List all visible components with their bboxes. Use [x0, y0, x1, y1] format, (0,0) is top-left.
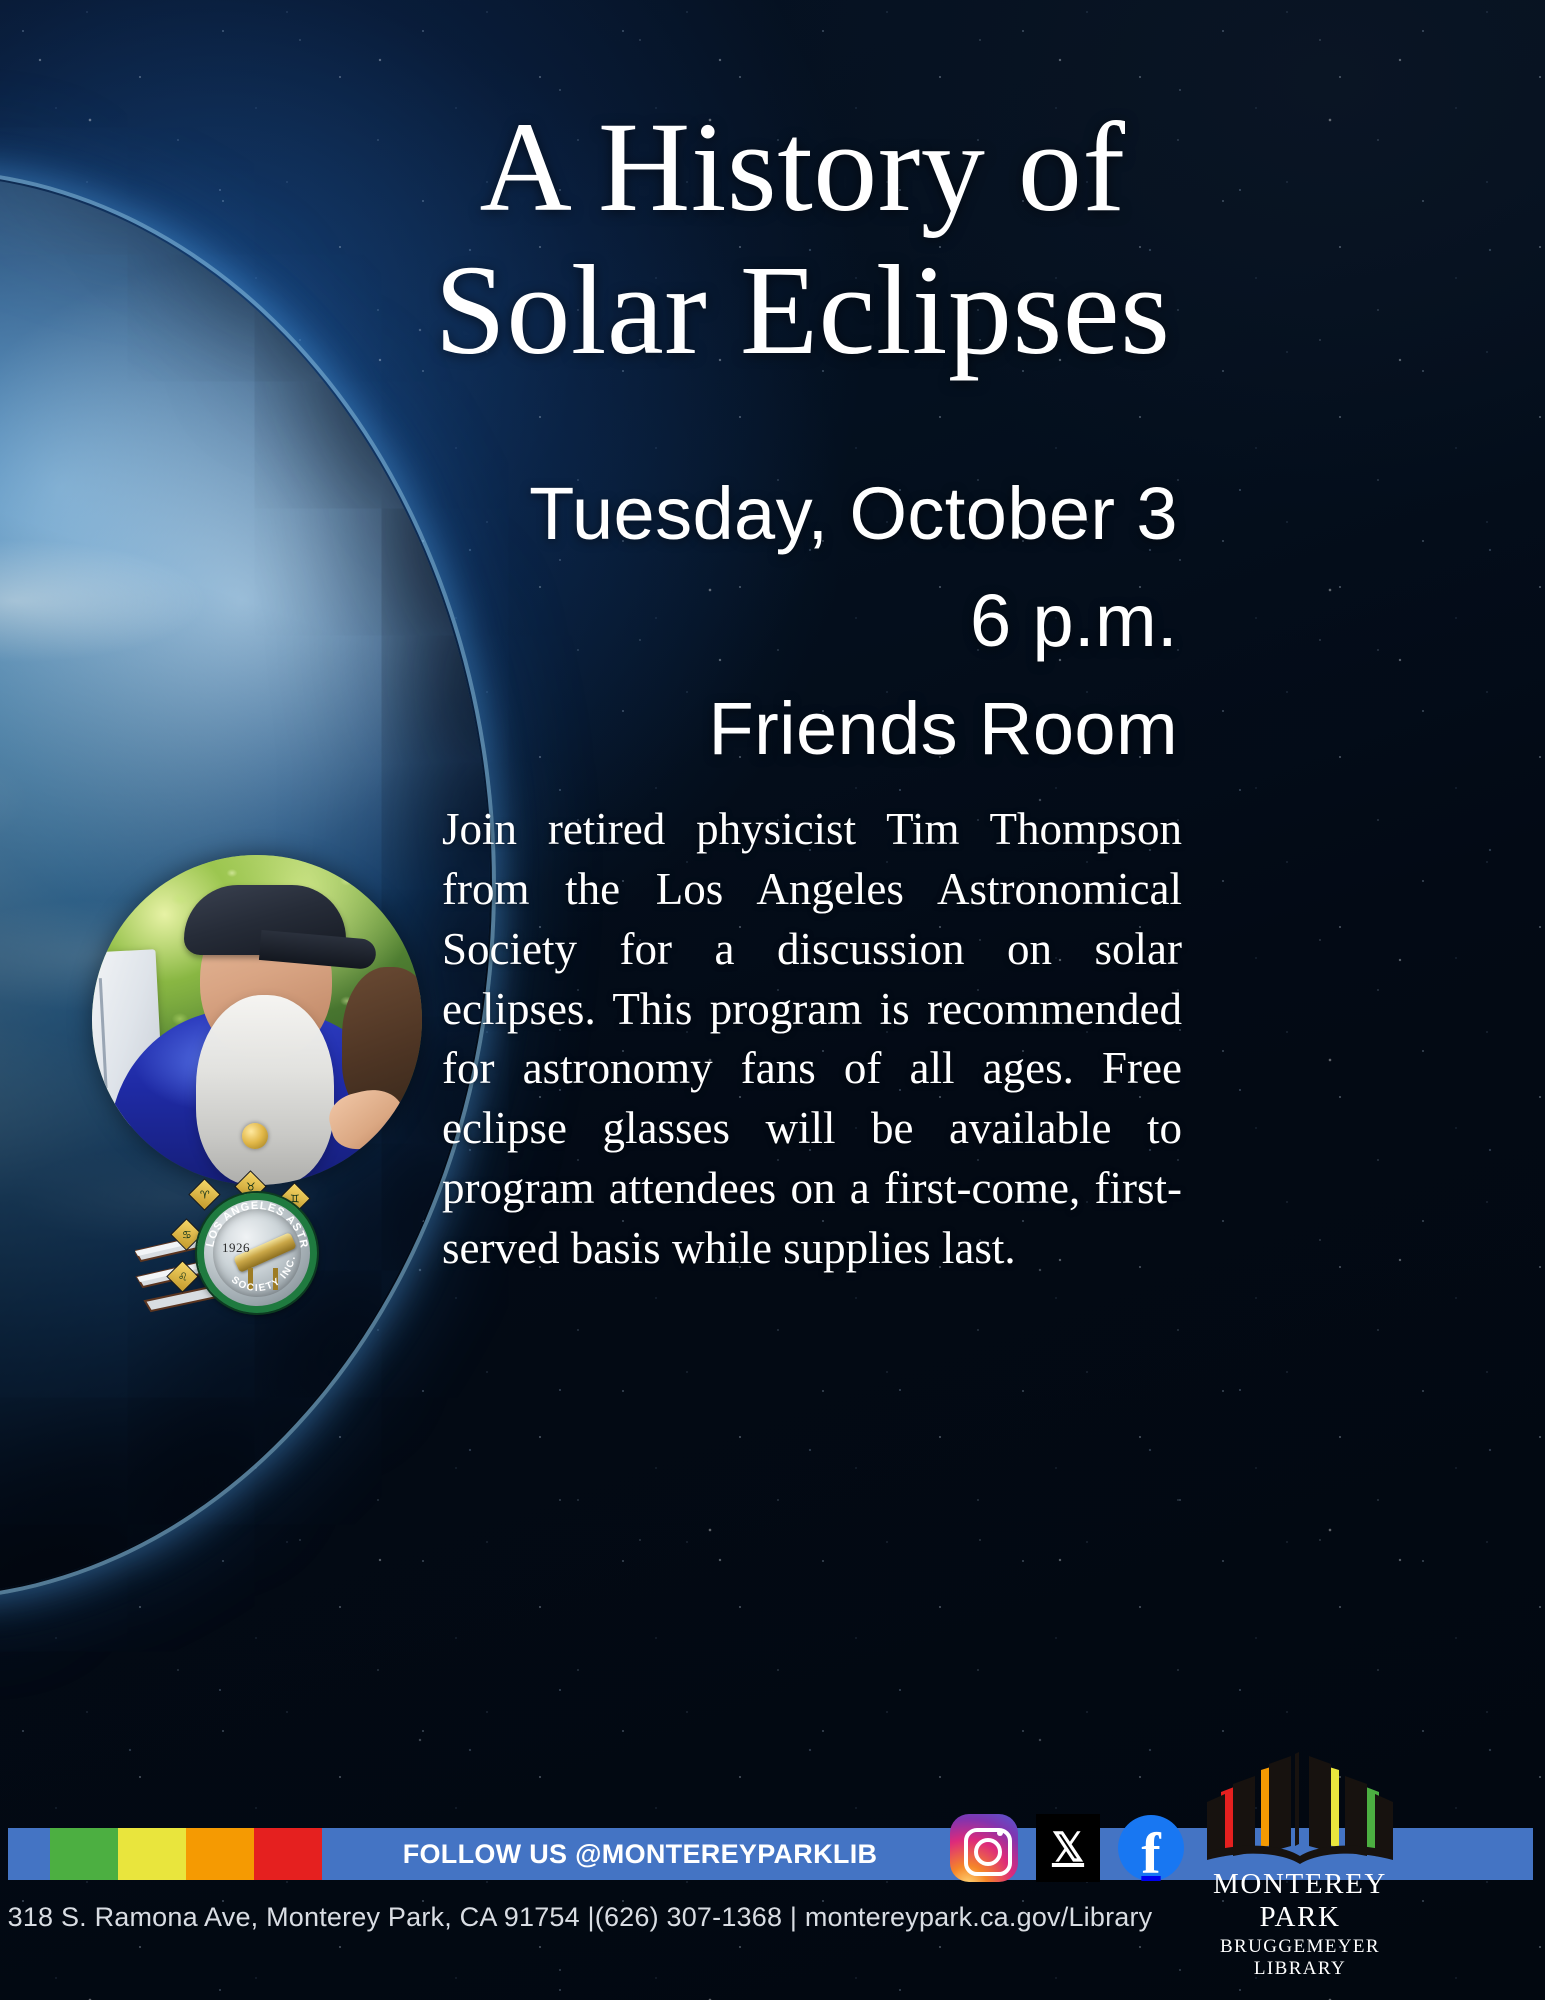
event-poster: ♈ ♉ ♊ ♋ ♌ 1926 LOS ANGELES ASTRONOMICAL … — [0, 0, 1545, 2000]
social-links: 𝕏 f — [950, 1814, 1184, 1882]
follow-us-label: FOLLOW US @MONTEREYPARKLIB — [330, 1828, 950, 1880]
facebook-icon[interactable]: f — [1118, 1815, 1184, 1881]
swatch-blue — [8, 1828, 50, 1880]
laas-medal-disc: 1926 LOS ANGELES ASTRONOMICAL SOCIETY IN… — [197, 1193, 317, 1313]
library-name-line-2: BRUGGEMEYER LIBRARY — [1185, 1936, 1415, 1980]
event-details: Tuesday, October 3 6 p.m. Friends Room — [430, 460, 1178, 782]
event-date: Tuesday, October 3 — [430, 460, 1178, 567]
svg-text:LOS ANGELES ASTRONOMICAL: LOS ANGELES ASTRONOMICAL — [197, 1193, 310, 1250]
swatch-red — [254, 1828, 322, 1880]
poster-footer: FOLLOW US @MONTEREYPARKLIB 𝕏 f — [0, 1810, 1545, 2000]
title-line-1: A History of — [480, 96, 1126, 238]
x-twitter-icon[interactable]: 𝕏 — [1036, 1814, 1100, 1882]
poster-text-column: A History of Solar Eclipses Tuesday, Oct… — [430, 0, 1520, 1810]
laas-emblem: ♈ ♉ ♊ ♋ ♌ 1926 LOS ANGELES ASTRONOMICAL … — [135, 1185, 325, 1320]
library-address: 318 S. Ramona Ave, Monterey Park, CA 917… — [0, 1902, 1160, 1933]
event-time: 6 p.m. — [430, 567, 1178, 674]
svg-text:SOCIETY INC.: SOCIETY INC. — [229, 1254, 298, 1294]
library-name-line-1: MONTEREY PARK — [1185, 1868, 1415, 1934]
event-description: Join retired physicist Tim Thompson from… — [442, 800, 1182, 1279]
open-book-icon — [1195, 1752, 1405, 1864]
color-swatch-row — [8, 1828, 322, 1880]
swatch-green — [50, 1828, 118, 1880]
swatch-orange — [186, 1828, 254, 1880]
event-location: Friends Room — [430, 675, 1178, 782]
speaker-photo — [92, 855, 422, 1185]
library-logo: MONTEREY PARK BRUGGEMEYER LIBRARY — [1185, 1752, 1415, 1980]
instagram-icon[interactable] — [950, 1814, 1018, 1882]
swatch-yellow — [118, 1828, 186, 1880]
page-title: A History of Solar Eclipses — [430, 96, 1175, 383]
title-line-2: Solar Eclipses — [430, 239, 1175, 382]
